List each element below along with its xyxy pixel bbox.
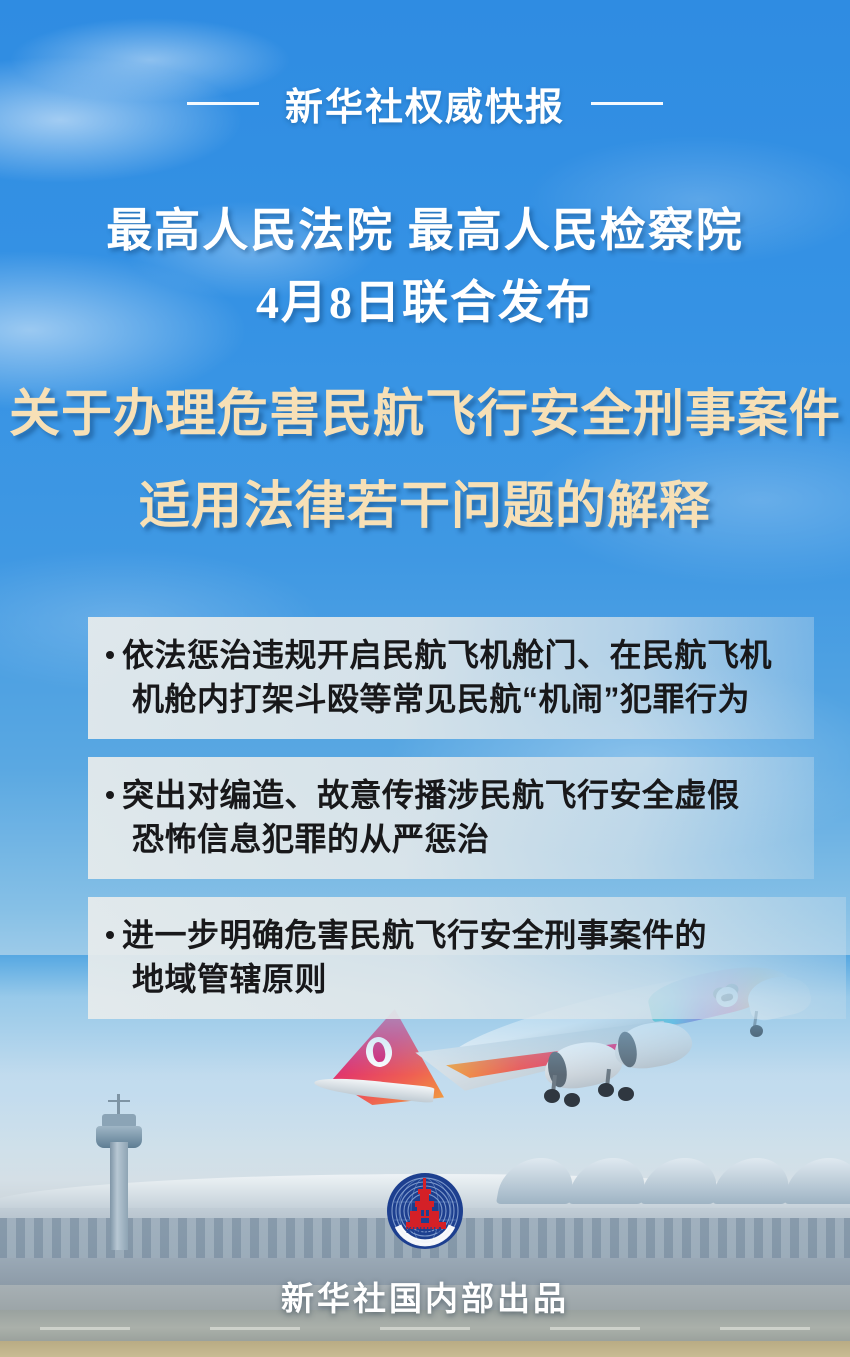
key-point-item: 依法惩治违规开启民航飞机舱门、在民航飞机 机舱内打架斗殴等常见民航“机闹”犯罪行… bbox=[88, 617, 814, 739]
kicker-banner: 新华社权威快报 bbox=[0, 76, 850, 131]
key-point-line: 突出对编造、故意传播涉民航飞行安全虚假 bbox=[106, 773, 794, 817]
key-point-line: 进一步明确危害民航飞行安全刑事案件的 bbox=[106, 913, 826, 957]
headline-line-1: 关于办理危害民航飞行安全刑事案件 bbox=[0, 372, 850, 446]
grass-strip bbox=[0, 1341, 850, 1357]
key-point-line: 恐怖信息犯罪的从严惩治 bbox=[106, 817, 794, 861]
key-point-item: 进一步明确危害民航飞行安全刑事案件的 地域管辖原则 bbox=[88, 897, 846, 1019]
bullet-dot-icon bbox=[106, 931, 114, 939]
news-poster: 新华社权威快报 最高人民法院 最高人民检察院 4月8日联合发布 关于办理危害民航… bbox=[0, 0, 850, 1357]
dash-left-icon bbox=[187, 102, 259, 105]
key-points-list: 依法惩治违规开启民航飞机舱门、在民航飞机 机舱内打架斗殴等常见民航“机闹”犯罪行… bbox=[88, 617, 788, 1037]
footer-credit: 新华社国内部出品 bbox=[0, 1272, 850, 1320]
logo-wordmark: XINHUA bbox=[406, 1226, 444, 1235]
key-point-line: 地域管辖原则 bbox=[106, 957, 826, 1001]
key-point-line: 机舱内打架斗殴等常见民航“机闹”犯罪行为 bbox=[106, 677, 794, 721]
issuing-organizations: 最高人民法院 最高人民检察院 bbox=[0, 194, 850, 260]
key-point-line: 依法惩治违规开启民航飞机舱门、在民航飞机 bbox=[106, 633, 794, 677]
headline-line-2: 适用法律若干问题的解释 bbox=[0, 464, 850, 538]
bullet-dot-icon bbox=[106, 791, 114, 799]
key-point-item: 突出对编造、故意传播涉民航飞行安全虚假 恐怖信息犯罪的从严惩治 bbox=[88, 757, 814, 879]
xinhua-logo-icon: XINHUA bbox=[386, 1172, 464, 1250]
release-date-line: 4月8日联合发布 bbox=[0, 266, 850, 332]
dash-right-icon bbox=[591, 102, 663, 105]
control-tower bbox=[96, 1100, 142, 1250]
bullet-dot-icon bbox=[106, 651, 114, 659]
kicker-label: 新华社权威快报 bbox=[285, 76, 565, 131]
